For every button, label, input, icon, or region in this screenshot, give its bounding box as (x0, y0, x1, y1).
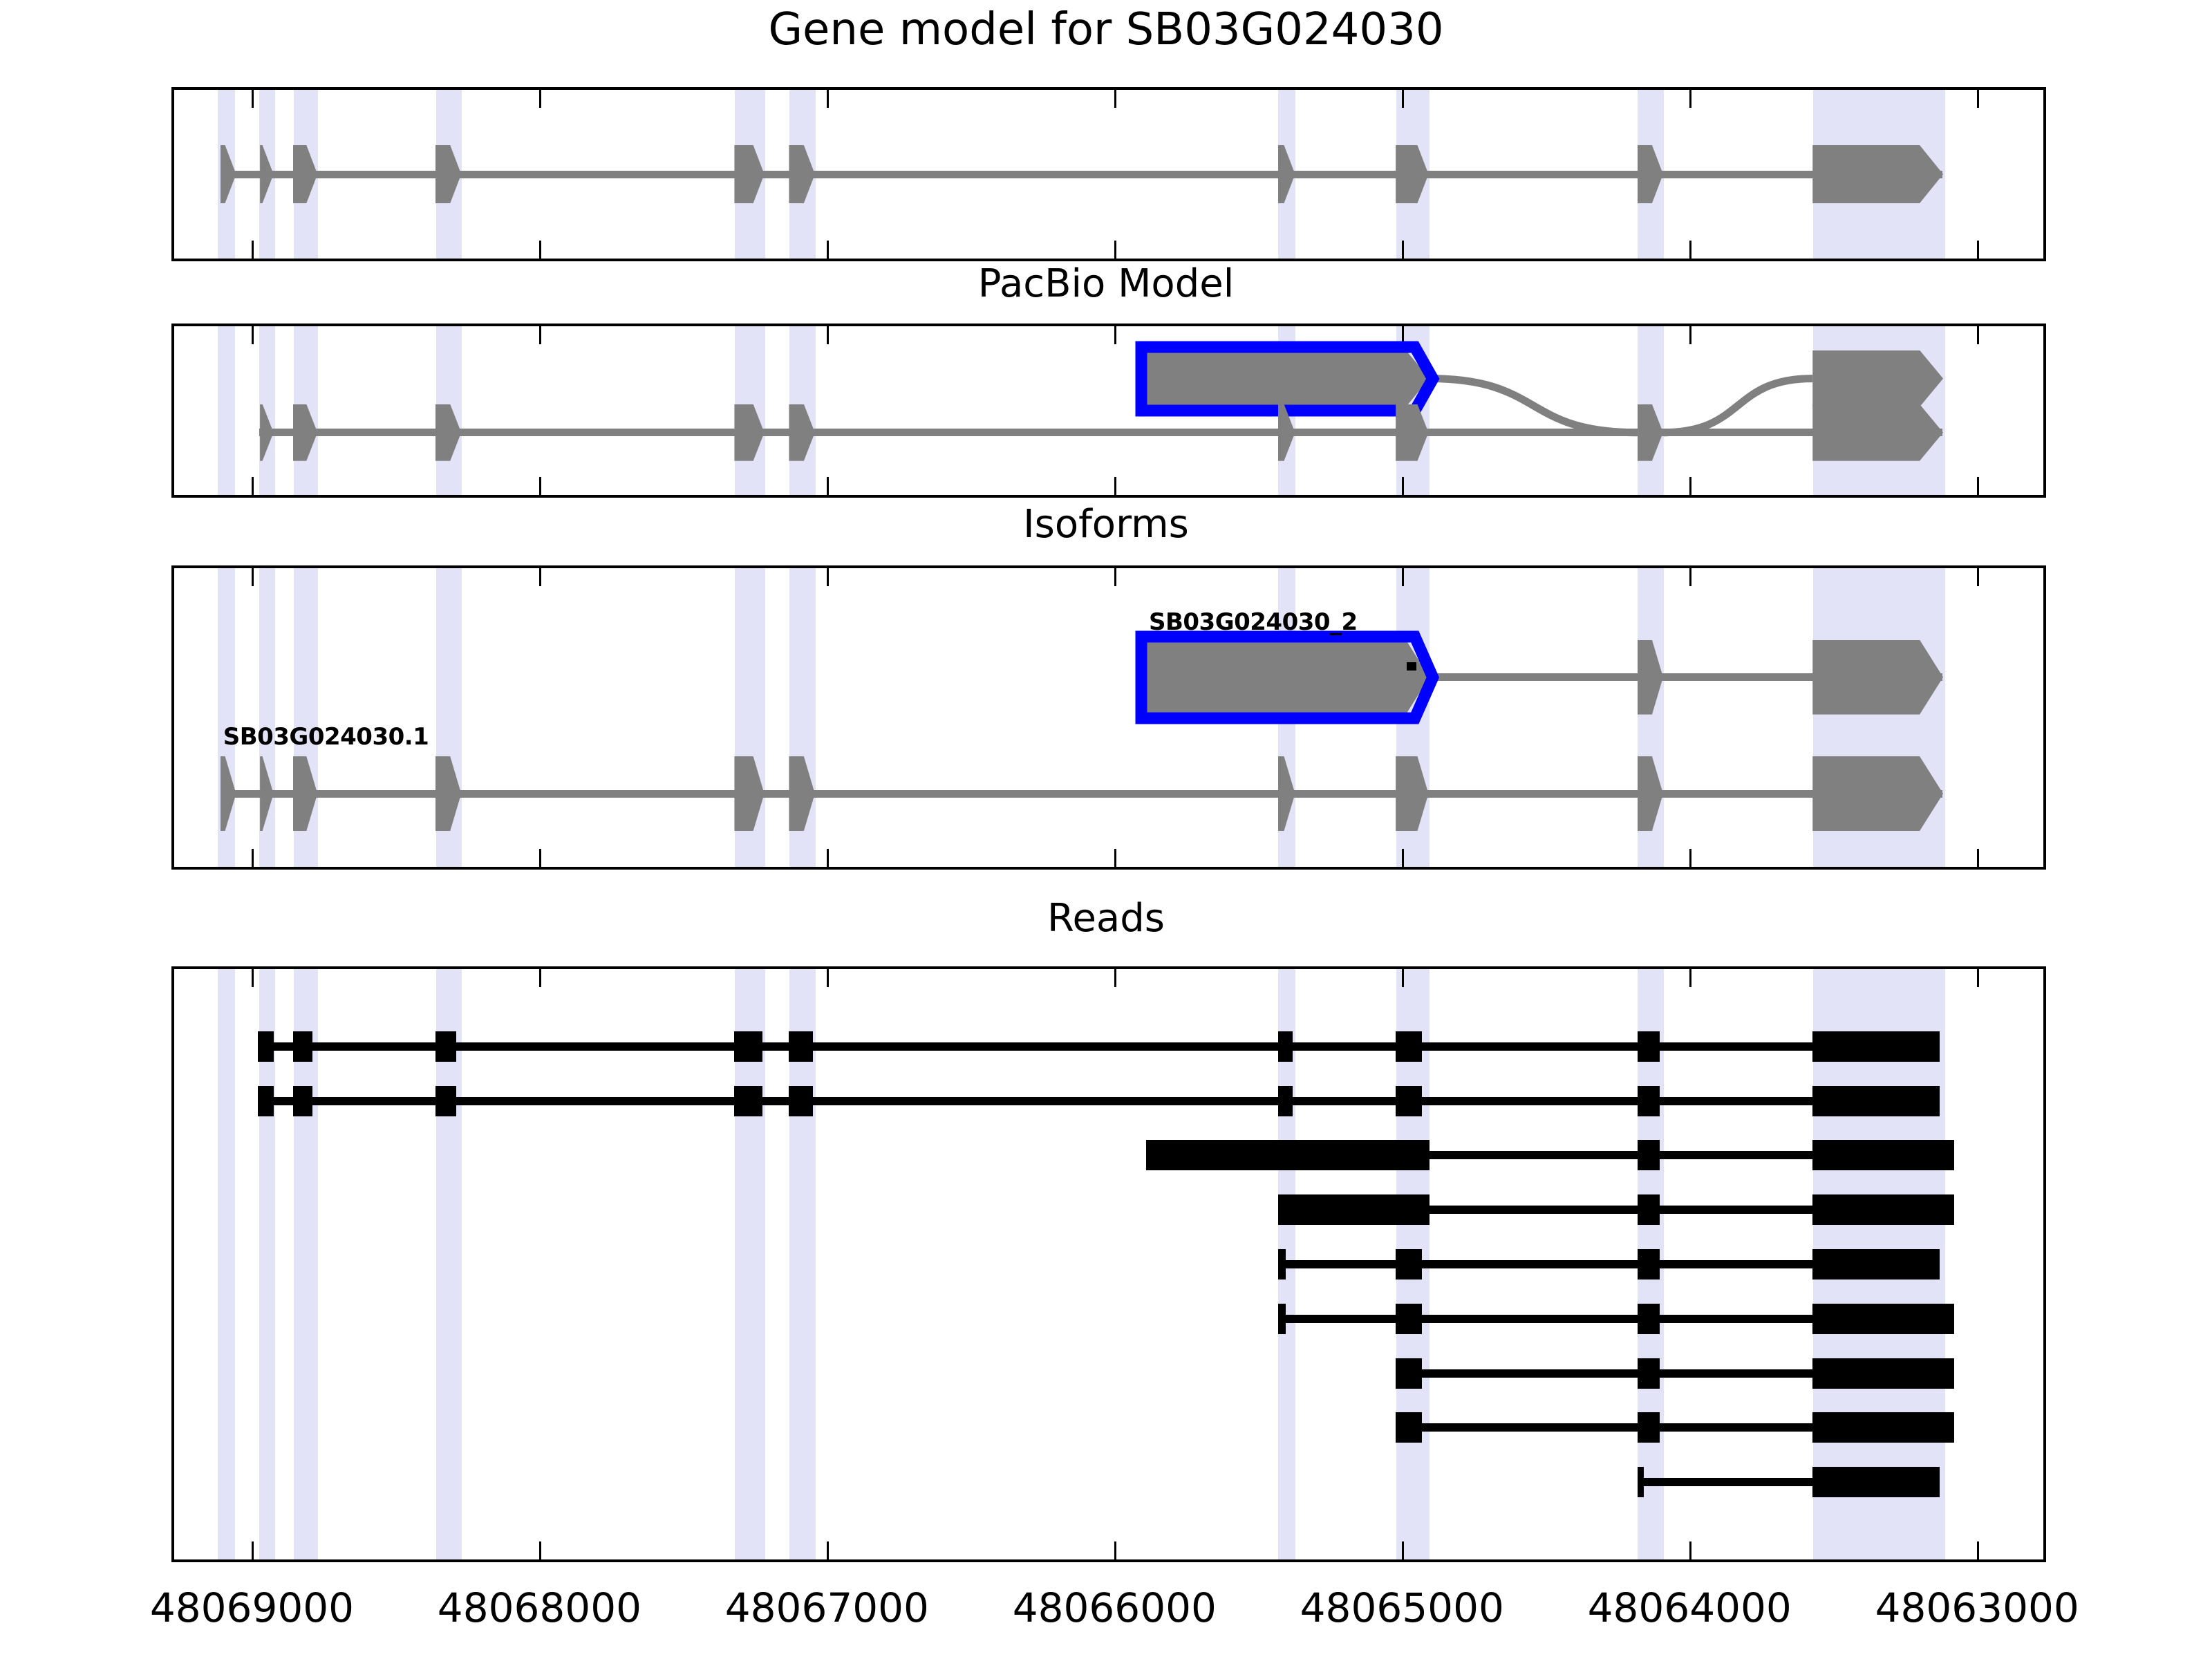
exon-block[interactable] (1396, 756, 1428, 831)
x-axis-tick-label: 48068000 (438, 1584, 641, 1631)
x-axis-tick-label: 48067000 (725, 1584, 929, 1631)
transcript-backbone (221, 790, 1943, 798)
exon-block[interactable] (1638, 1467, 1644, 1497)
exon-block[interactable] (260, 756, 274, 831)
transcript-track[interactable]: SB03G024030.1 (174, 568, 2043, 867)
render-marker (1407, 662, 1416, 671)
exon-block[interactable] (789, 756, 814, 831)
exon-block[interactable] (1396, 404, 1428, 461)
exon-block[interactable] (435, 756, 461, 831)
exon-block[interactable] (435, 404, 461, 461)
exon-block[interactable] (734, 756, 764, 831)
transcript-backbone (259, 429, 1942, 436)
pacbio-model-title: PacBio Model (0, 261, 2212, 306)
x-axis-tick-label: 48069000 (150, 1584, 354, 1631)
isoforms-title: Isoforms (0, 502, 2212, 547)
transcript-track[interactable] (174, 90, 2043, 259)
exon-block[interactable] (260, 404, 274, 461)
exon-block[interactable] (221, 145, 236, 203)
pacbio-model-plot-area (174, 326, 2043, 495)
page-title: Gene model for SB03G024030 (0, 4, 2212, 55)
x-axis-tick-label: 48066000 (1013, 1584, 1217, 1631)
exon-block[interactable] (260, 145, 274, 203)
exon-block[interactable] (1812, 756, 1943, 831)
exon-block[interactable] (1278, 756, 1295, 831)
exon-block[interactable] (1638, 404, 1663, 461)
exon-block[interactable] (1812, 404, 1943, 461)
exon-block[interactable] (1278, 145, 1295, 203)
exon-block[interactable] (1396, 145, 1428, 203)
reads-title: Reads (0, 896, 2212, 941)
exon-block[interactable] (1638, 145, 1663, 203)
exon-block[interactable] (293, 756, 318, 831)
isoforms-axes: SB03G024030_2SB03G024030.1 (171, 565, 2046, 870)
exon-block[interactable] (293, 404, 318, 461)
x-axis-tick-label: 48063000 (1875, 1584, 2079, 1631)
pacbio-model-axes (171, 324, 2046, 498)
reads-plot-area (174, 969, 2043, 1559)
exon-block[interactable] (734, 145, 764, 203)
reads-axes (171, 966, 2046, 1562)
gene-model-plot-area (174, 90, 2043, 259)
exon-block[interactable] (789, 404, 814, 461)
exon-block[interactable] (1278, 404, 1295, 461)
exon-block[interactable] (1638, 756, 1663, 831)
exon-block[interactable] (734, 404, 764, 461)
transcript-track[interactable] (174, 969, 2043, 1559)
isoform-label: SB03G024030.1 (223, 723, 429, 751)
transcript-backbone (221, 171, 1943, 178)
gene-model-axes (171, 87, 2046, 261)
exon-block[interactable] (221, 756, 236, 831)
exon-block[interactable] (435, 145, 461, 203)
figure-canvas: Gene model for SB03G024030 PacBio Model … (0, 0, 2212, 1659)
exon-block[interactable] (789, 145, 814, 203)
isoforms-plot-area: SB03G024030_2SB03G024030.1 (174, 568, 2043, 867)
transcript-track[interactable] (174, 326, 2043, 495)
exon-block[interactable] (293, 145, 318, 203)
exon-block[interactable] (1812, 1467, 1940, 1497)
x-axis-tick-label: 48064000 (1588, 1584, 1792, 1631)
exon-block[interactable] (1812, 145, 1943, 203)
x-axis-tick-label: 48065000 (1300, 1584, 1504, 1631)
